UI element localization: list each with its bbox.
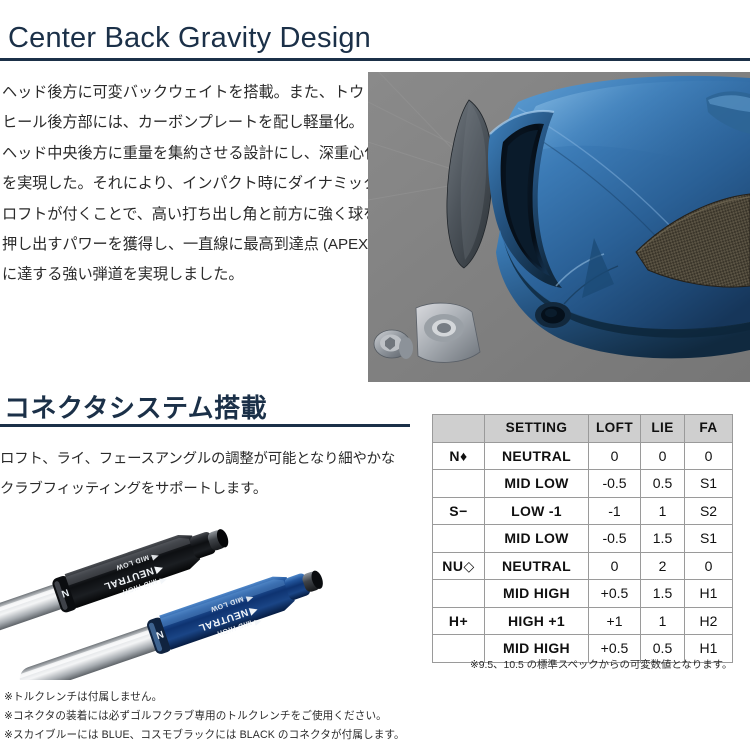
cell-setting: MID LOW	[485, 470, 589, 498]
body-line: ヘッド中央後方に重量を集約させる設計にし、深重心化	[2, 139, 354, 169]
header-fa: FA	[685, 415, 733, 443]
cell-setting: NEUTRAL	[485, 552, 589, 580]
cell-setting: MID HIGH	[485, 580, 589, 608]
table-row: NU◇ NEUTRAL 0 2 0	[433, 552, 733, 580]
cell-setting: NEUTRAL	[485, 442, 589, 470]
adjustment-spec-table: SETTING LOFT LIE FA N♦ NEUTRAL 0 0 0 MID…	[432, 414, 732, 663]
cell-loft: +0.5	[589, 580, 641, 608]
cell-code: S−	[433, 497, 485, 525]
header-setting: SETTING	[485, 415, 589, 443]
body-line: ヒール後方部には、カーボンプレートを配し軽量化。	[2, 108, 354, 138]
section-one-body: ヘッド後方に可変バックウェイトを搭載。また、トウ・ ヒール後方部には、カーボンプ…	[2, 78, 354, 291]
cell-loft: +1	[589, 607, 641, 635]
cell-setting: LOW -1	[485, 497, 589, 525]
section-one-title: Center Back Gravity Design	[8, 22, 371, 55]
cell-lie: 1.5	[641, 580, 685, 608]
cell-loft: -0.5	[589, 525, 641, 553]
table-row: H+ HIGH +1 +1 1 H2	[433, 607, 733, 635]
cell-fa: H1	[685, 580, 733, 608]
cell-code: NU◇	[433, 552, 485, 580]
connector-sleeves-illustration: NEUTRAL MID HIGH MID LOW N	[0, 512, 340, 680]
cell-setting: HIGH +1	[485, 607, 589, 635]
body-line: に達する強い弾道を実現しました。	[2, 260, 354, 290]
section-two-body: ロフト、ライ、フェースアングルの調整が可能となり細やかな クラブフィッティングを…	[0, 444, 356, 504]
section-two-title: コネクタシステム搭載	[4, 388, 267, 425]
cell-loft: -1	[589, 497, 641, 525]
cell-fa: S1	[685, 525, 733, 553]
section-two-divider	[0, 424, 410, 427]
cell-fa: 0	[685, 442, 733, 470]
cell-lie: 0	[641, 442, 685, 470]
table-header-row: SETTING LOFT LIE FA	[433, 415, 733, 443]
header-loft: LOFT	[589, 415, 641, 443]
cell-lie: 2	[641, 552, 685, 580]
table-row: N♦ NEUTRAL 0 0 0	[433, 442, 733, 470]
cell-loft: 0	[589, 442, 641, 470]
table-row: S− LOW -1 -1 1 S2	[433, 497, 733, 525]
body-line: クラブフィッティングをサポートします。	[0, 474, 356, 504]
driver-head-render-image	[368, 72, 750, 382]
body-line: ロフト、ライ、フェースアングルの調整が可能となり細やかな	[0, 444, 356, 474]
cell-lie: 1	[641, 607, 685, 635]
body-line: ロフトが付くことで、高い打ち出し角と前方に強く球を	[2, 200, 354, 230]
table-row: MID LOW -0.5 1.5 S1	[433, 525, 733, 553]
table-row: MID LOW -0.5 0.5 S1	[433, 470, 733, 498]
cell-code	[433, 470, 485, 498]
cell-lie: 1	[641, 497, 685, 525]
header-blank	[433, 415, 485, 443]
section-one-divider	[0, 58, 750, 61]
body-line: ヘッド後方に可変バックウェイトを搭載。また、トウ・	[2, 78, 354, 108]
cell-fa: H2	[685, 607, 733, 635]
cell-lie: 0.5	[641, 470, 685, 498]
cell-fa: 0	[685, 552, 733, 580]
connector-sleeves-image: NEUTRAL MID HIGH MID LOW N	[0, 512, 340, 680]
footnote: ※トルクレンチは付属しません。	[4, 688, 744, 707]
body-line: を実現した。それにより、インパクト時にダイナミック	[2, 169, 354, 199]
cell-fa: S2	[685, 497, 733, 525]
footnote: ※スカイブルーには BLUE、コスモブラックには BLACK のコネクタが付属し…	[4, 726, 744, 745]
footnote: ※コネクタの装着には必ずゴルフクラブ専用のトルクレンチをご使用ください。	[4, 707, 744, 726]
cell-code: H+	[433, 607, 485, 635]
cell-code: N♦	[433, 442, 485, 470]
body-line: 押し出すパワーを獲得し、一直線に最高到達点 (APEX)	[2, 230, 354, 260]
cell-loft: -0.5	[589, 470, 641, 498]
cell-code	[433, 580, 485, 608]
header-lie: LIE	[641, 415, 685, 443]
driver-head-illustration	[368, 72, 750, 382]
table-row: MID HIGH +0.5 1.5 H1	[433, 580, 733, 608]
spec-table-note: ※9.5、10.5 の標準スペックからの可変数値となります。	[470, 656, 732, 671]
cell-setting: MID LOW	[485, 525, 589, 553]
cell-code	[433, 525, 485, 553]
cell-lie: 1.5	[641, 525, 685, 553]
product-detail-page: Center Back Gravity Design ヘッド後方に可変バックウェ…	[0, 0, 750, 750]
cell-loft: 0	[589, 552, 641, 580]
cell-fa: S1	[685, 470, 733, 498]
footnotes-block: ※トルクレンチは付属しません。 ※コネクタの装着には必ずゴルフクラブ専用のトルク…	[4, 688, 744, 745]
